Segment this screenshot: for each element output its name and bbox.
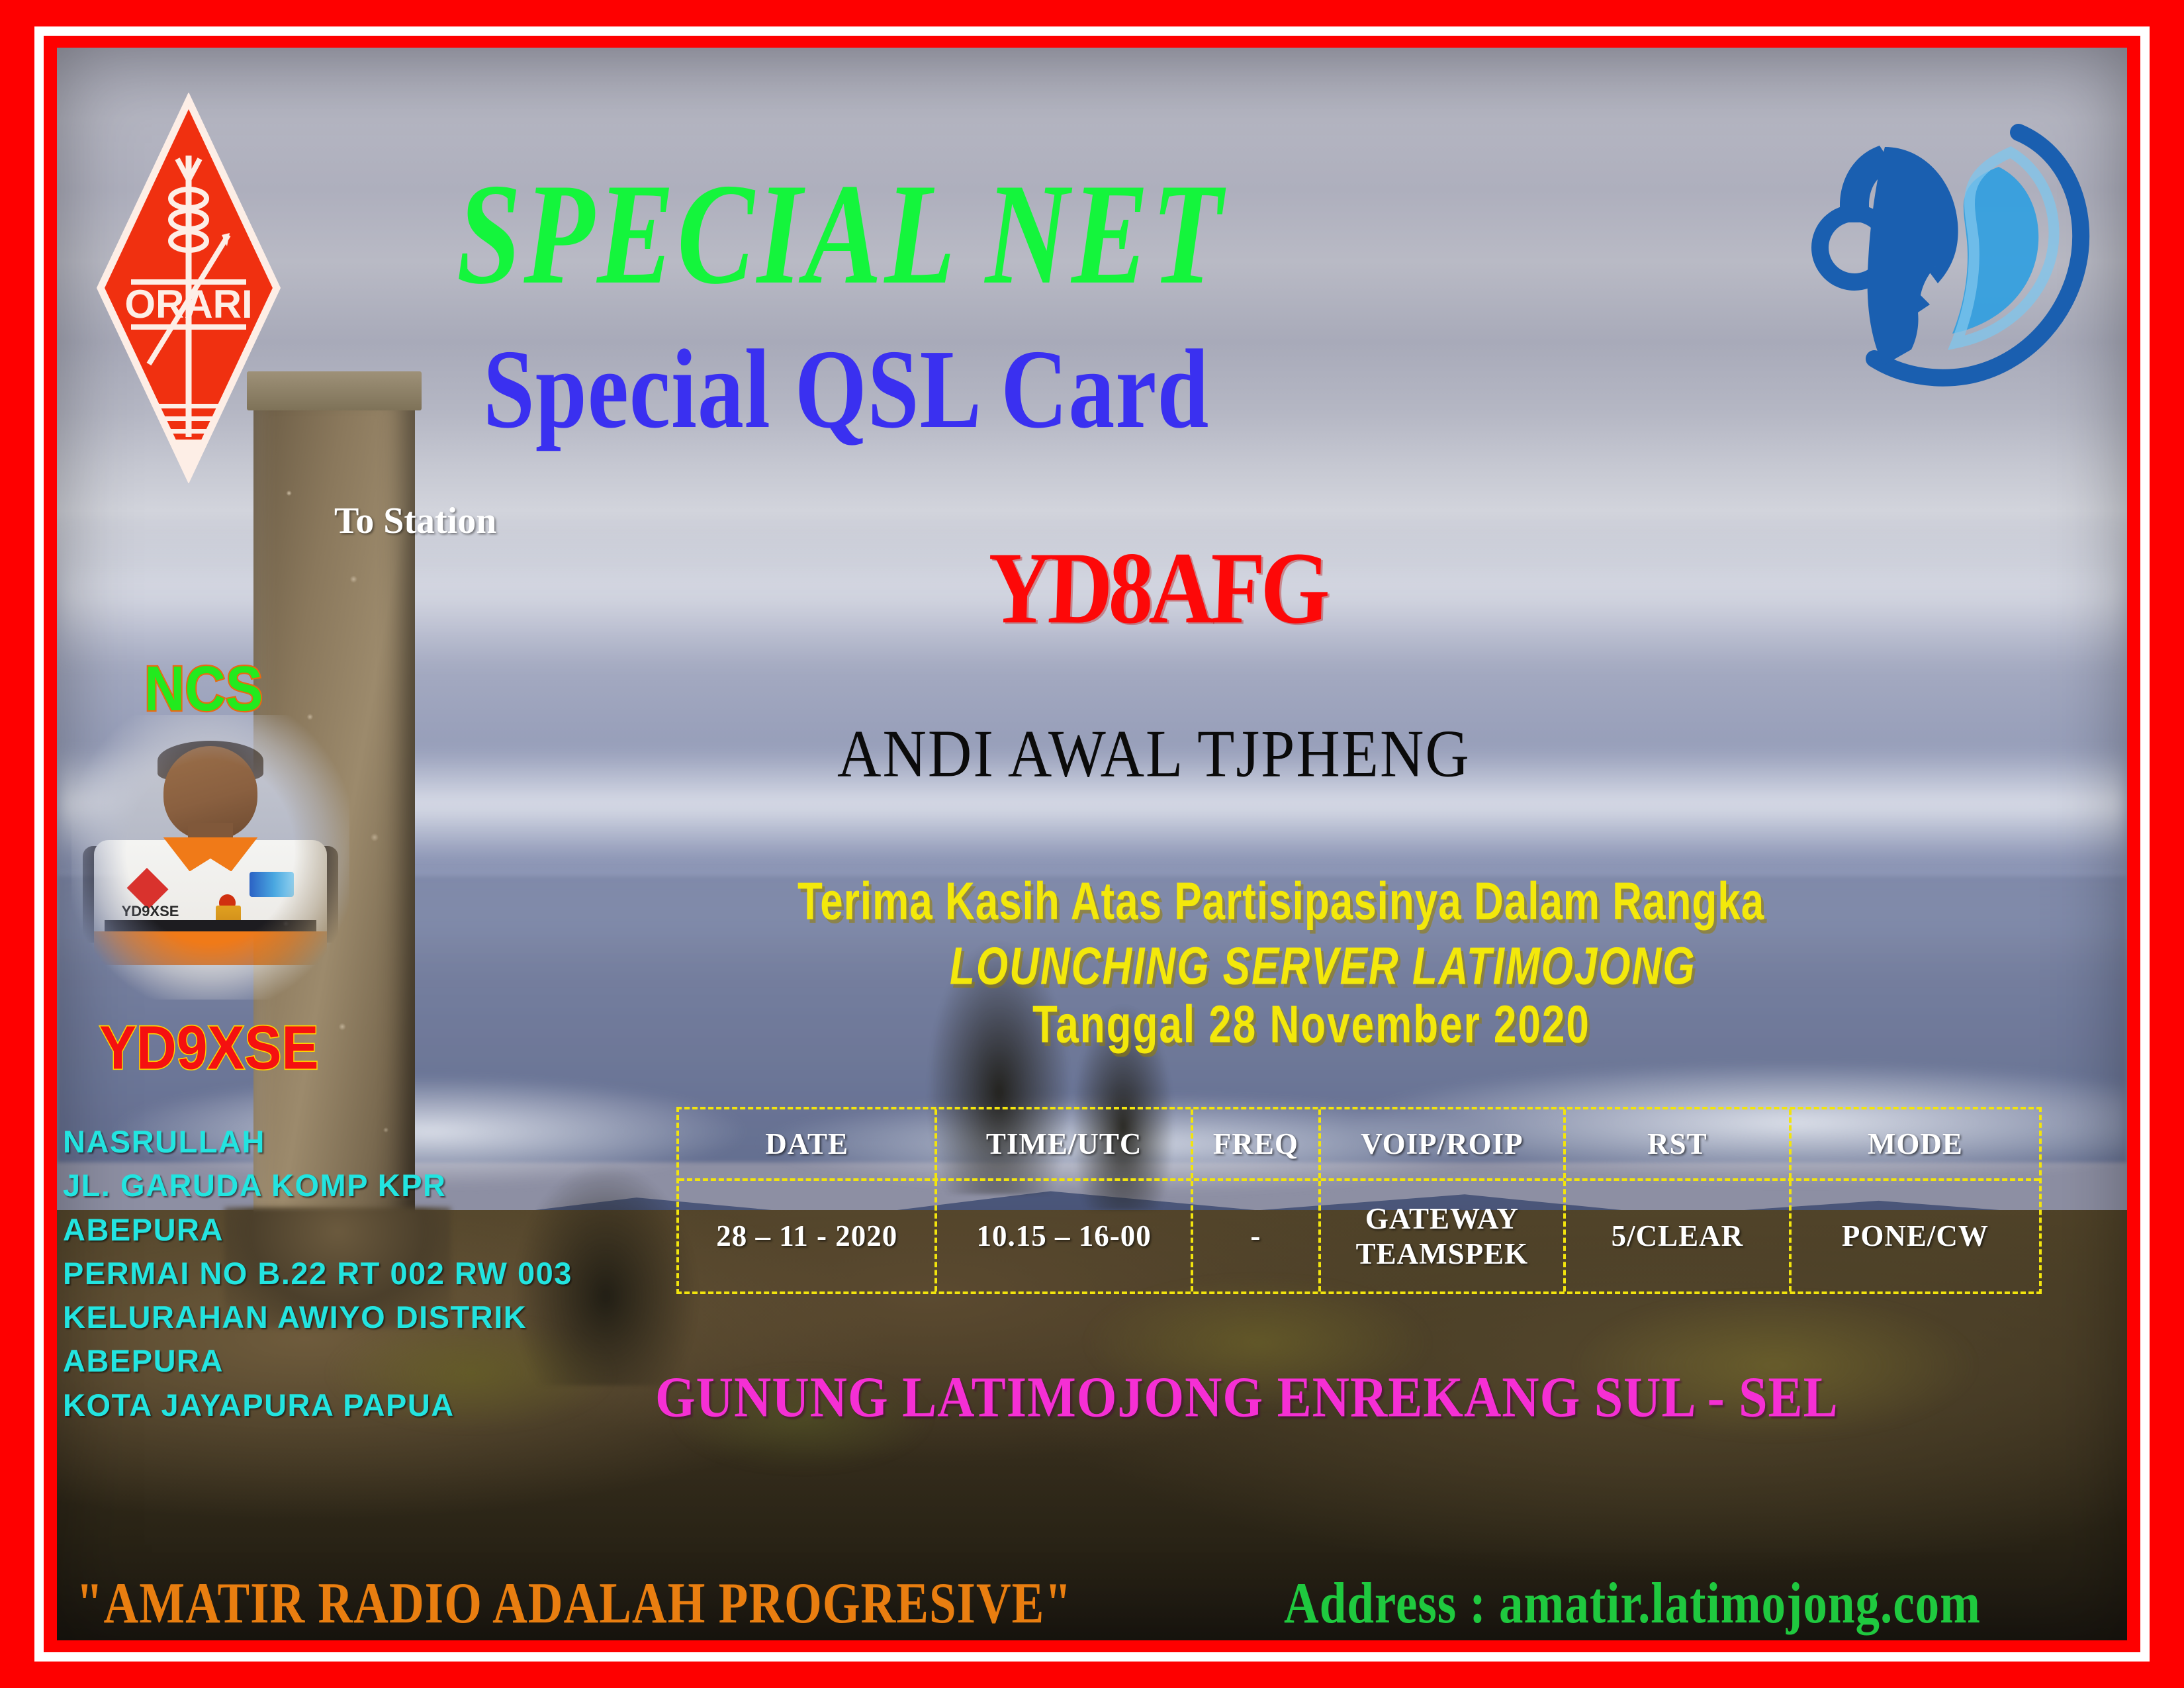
station-callsign: YD8AFG — [986, 530, 1328, 647]
ncs-operator-photo: YD9XSE — [71, 715, 349, 1000]
cell-time: 10.15 – 16-00 — [937, 1181, 1193, 1291]
column-header-voip-roip: VOIP/ROIP — [1321, 1109, 1566, 1178]
ncs-callsign: YD9XSE — [99, 1013, 319, 1084]
headset-profile-logo — [1800, 106, 2091, 391]
page-subtitle: Special QSL Card — [483, 324, 1209, 454]
table-header-row: DATE TIME/UTC FREQ VOIP/ROIP RST MODE — [679, 1109, 2039, 1178]
address-line: ABEPURA — [63, 1339, 572, 1383]
uniform-callsign-text: YD9XSE — [122, 903, 179, 920]
ncs-label: NCS — [144, 653, 263, 726]
slogan-text: "AMATIR RADIO ADALAH PROGRESIVE" — [76, 1570, 1072, 1637]
cell-mode: PONE/CW — [1792, 1181, 2039, 1291]
web-address-text: Address : amatir.latimojong.com — [1284, 1570, 1981, 1637]
operator-name: ANDI AWAL TJPHENG — [837, 715, 1471, 792]
address-line: KOTA JAYAPURA PAPUA — [63, 1383, 572, 1427]
qsl-card: ORARI YD9XSE NCS YD9XSE SPECIAL NET Spec… — [0, 0, 2184, 1688]
address-line: NASRULLAH — [63, 1120, 572, 1164]
cell-voip-line-1: GATEWAY — [1365, 1202, 1519, 1235]
column-header-time: TIME/UTC — [937, 1109, 1193, 1178]
thanks-line-2: LOUNCHING SERVER LATIMOJONG — [950, 937, 1696, 997]
cell-voip-roip: GATEWAY TEAMSPEK — [1321, 1181, 1566, 1291]
return-address-block: NASRULLAH JL. GARUDA KOMP KPR ABEPURA PE… — [63, 1120, 572, 1427]
address-line: PERMAI NO B.22 RT 002 RW 003 — [63, 1252, 572, 1295]
cell-voip-line-2: TEAMSPEK — [1356, 1237, 1529, 1270]
qso-log-table: DATE TIME/UTC FREQ VOIP/ROIP RST MODE 28… — [676, 1107, 2042, 1294]
cell-freq: - — [1193, 1181, 1321, 1291]
address-line: KELURAHAN AWIYO DISTRIK — [63, 1295, 572, 1339]
thanks-line-1: Terima Kasih Atas Partisipasinya Dalam R… — [797, 872, 1764, 932]
column-header-rst: RST — [1566, 1109, 1792, 1178]
orari-wordmark: ORARI — [124, 282, 252, 326]
page-title: SPECIAL NET — [457, 151, 1225, 317]
column-header-date: DATE — [679, 1109, 937, 1178]
column-header-freq: FREQ — [1193, 1109, 1321, 1178]
orari-diamond-logo: ORARI — [93, 93, 285, 483]
address-line: JL. GARUDA KOMP KPR — [63, 1164, 572, 1207]
location-caption: GUNUNG LATIMOJONG ENREKANG SUL - SEL — [655, 1364, 1839, 1430]
to-station-label: To Station — [334, 500, 496, 542]
table-row: 28 – 11 - 2020 10.15 – 16-00 - GATEWAY T… — [679, 1178, 2039, 1291]
cell-date: 28 – 11 - 2020 — [679, 1181, 937, 1291]
column-header-mode: MODE — [1792, 1109, 2039, 1178]
cell-rst: 5/CLEAR — [1566, 1181, 1792, 1291]
address-line: ABEPURA — [63, 1208, 572, 1252]
thanks-line-3: Tanggal 28 November 2020 — [1032, 995, 1590, 1055]
